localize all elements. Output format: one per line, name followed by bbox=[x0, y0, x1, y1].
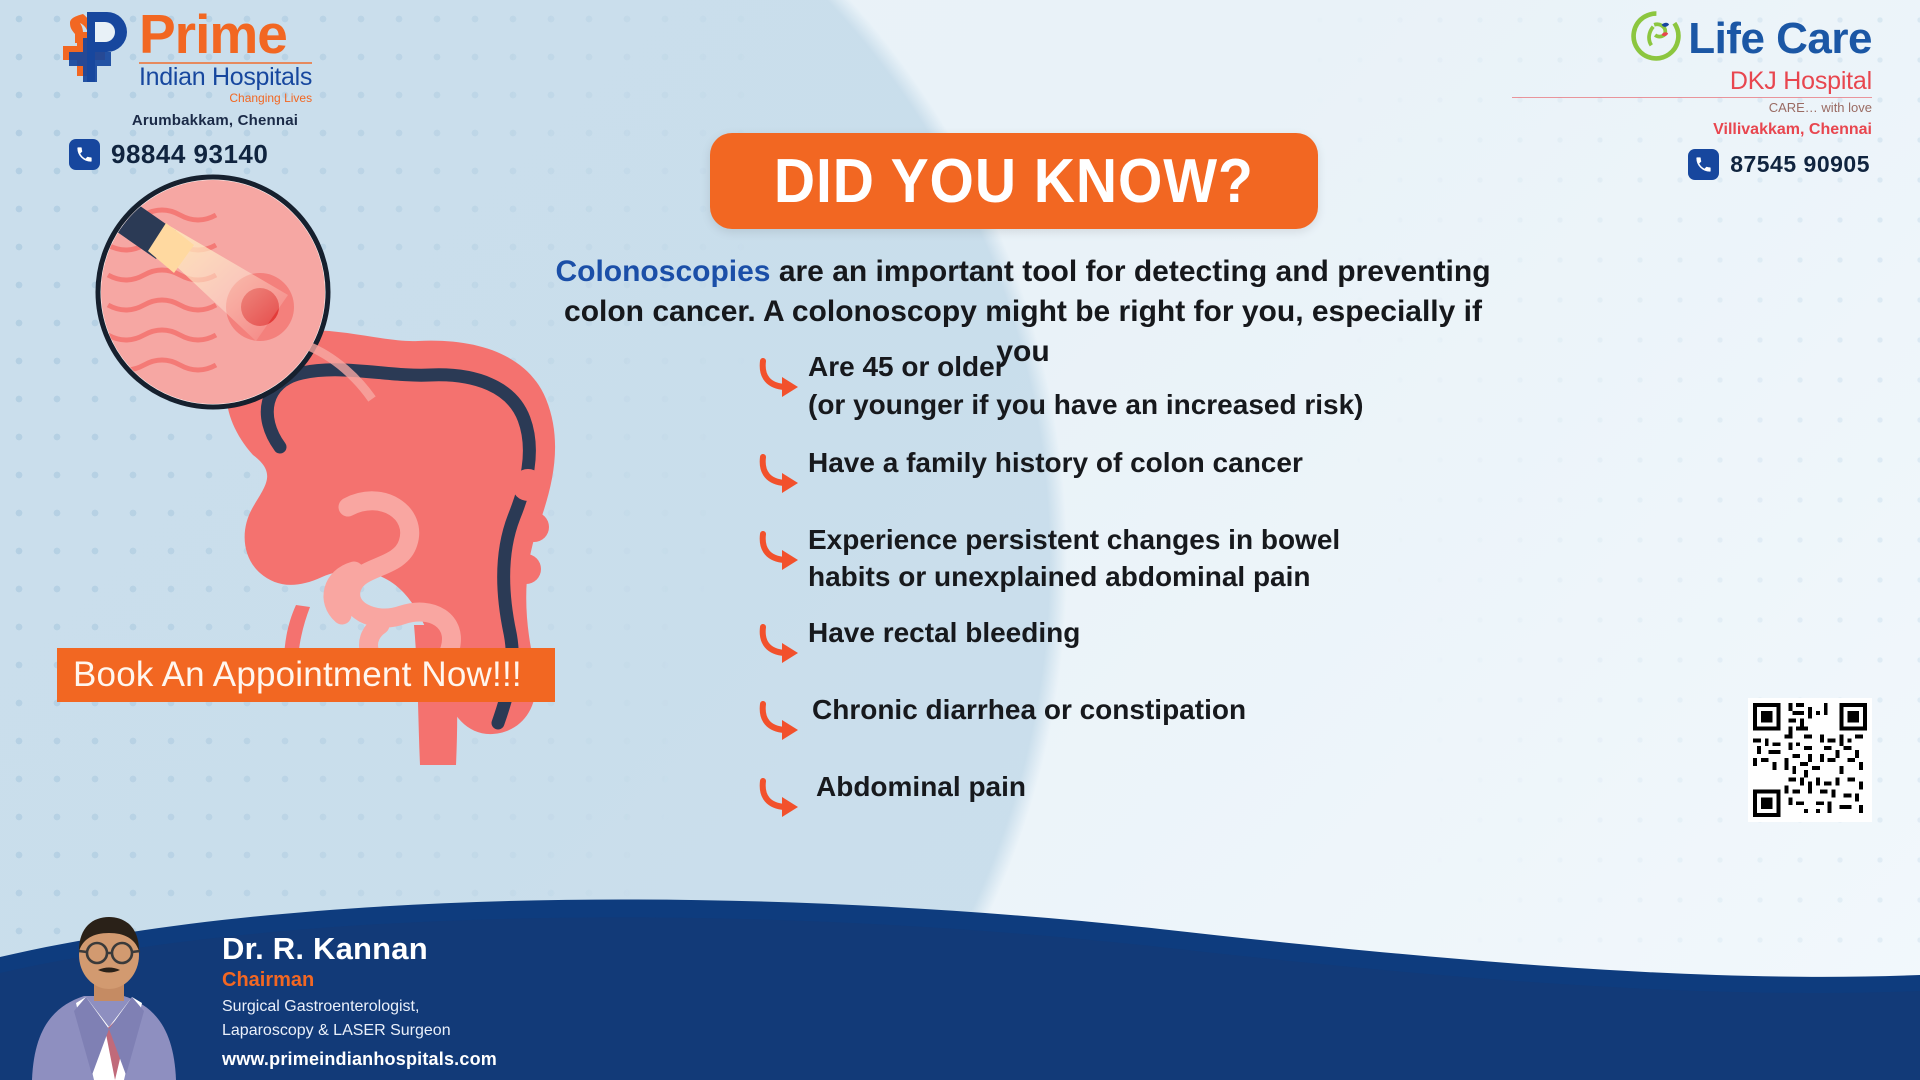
prime-indian-hospitals-logo: Prime Indian Hospitals Changing Lives Ar… bbox=[55, 8, 375, 170]
list-item: Have rectal bleeding bbox=[756, 614, 1756, 669]
right-logo-location: Villivakkam, Chennai bbox=[1512, 121, 1872, 139]
list-item-label: Have a family history of colon cancer bbox=[808, 444, 1303, 482]
logo-divider bbox=[139, 62, 312, 64]
curved-arrow-icon bbox=[756, 531, 808, 576]
right-phone-number: 87545 90905 bbox=[1730, 151, 1870, 178]
bullet-list: Are 45 or older (or younger if you have … bbox=[756, 348, 1756, 843]
right-logo-name-secondary: DKJ Hospital bbox=[1512, 67, 1872, 96]
headline-banner: DID YOU KNOW? bbox=[710, 133, 1318, 229]
list-item-label: Are 45 or older (or younger if you have … bbox=[808, 348, 1364, 424]
curved-arrow-icon bbox=[756, 624, 808, 669]
list-item: Chronic diarrhea or constipation bbox=[756, 691, 1756, 746]
list-item-label: Abdominal pain bbox=[808, 768, 1026, 806]
website-link[interactable]: www.primeindianhospitals.com bbox=[222, 1049, 497, 1070]
poster-canvas: Prime Indian Hospitals Changing Lives Ar… bbox=[0, 0, 1920, 1080]
curved-arrow-icon bbox=[756, 358, 808, 403]
qr-code[interactable] bbox=[1748, 698, 1872, 822]
list-item: Abdominal pain bbox=[756, 768, 1756, 823]
doctor-role: Chairman bbox=[222, 969, 497, 992]
right-logo-name-primary: Life Care bbox=[1688, 17, 1872, 61]
curved-arrow-icon bbox=[756, 454, 808, 499]
list-item-label: Have rectal bleeding bbox=[808, 614, 1080, 652]
logo-tagline: Changing Lives bbox=[139, 91, 312, 105]
life-care-dkj-hospital-logo: Life Care DKJ Hospital CARE… with love V… bbox=[1512, 8, 1872, 180]
doctor-info: Dr. R. Kannan Chairman Surgical Gastroen… bbox=[222, 931, 497, 1070]
logo-name-primary: Prime bbox=[139, 8, 312, 60]
avatar bbox=[14, 915, 204, 1080]
list-item: Experience persistent changes in bowel h… bbox=[756, 521, 1756, 597]
right-logo-tagline: CARE… with love bbox=[1512, 100, 1872, 115]
book-appointment-label: Book An Appointment Now!!! bbox=[73, 655, 522, 695]
life-care-leaf-circle-icon bbox=[1628, 8, 1684, 69]
list-item-label: Chronic diarrhea or constipation bbox=[808, 691, 1246, 729]
left-logo-location: Arumbakkam, Chennai bbox=[55, 112, 375, 129]
curved-arrow-icon bbox=[756, 778, 808, 823]
headline-text: DID YOU KNOW? bbox=[774, 146, 1254, 217]
list-item-label: Experience persistent changes in bowel h… bbox=[808, 521, 1340, 597]
list-item: Are 45 or older (or younger if you have … bbox=[756, 348, 1756, 424]
book-appointment-button[interactable]: Book An Appointment Now!!! bbox=[57, 648, 555, 702]
prime-p-flame-cross-icon bbox=[55, 8, 133, 95]
intro-highlight: Colonoscopies bbox=[555, 255, 770, 288]
doctor-specialty-line1: Surgical Gastroenterologist, bbox=[222, 997, 497, 1017]
right-logo-divider bbox=[1512, 97, 1872, 98]
list-item: Have a family history of colon cancer bbox=[756, 444, 1756, 499]
phone-icon bbox=[1688, 149, 1719, 180]
right-phone-block[interactable]: 87545 90905 bbox=[1512, 149, 1872, 180]
curved-arrow-icon bbox=[756, 701, 808, 746]
doctor-specialty-line2: Laparoscopy & LASER Surgeon bbox=[222, 1021, 497, 1041]
logo-name-secondary: Indian Hospitals bbox=[139, 65, 312, 90]
doctor-name: Dr. R. Kannan bbox=[222, 931, 497, 967]
